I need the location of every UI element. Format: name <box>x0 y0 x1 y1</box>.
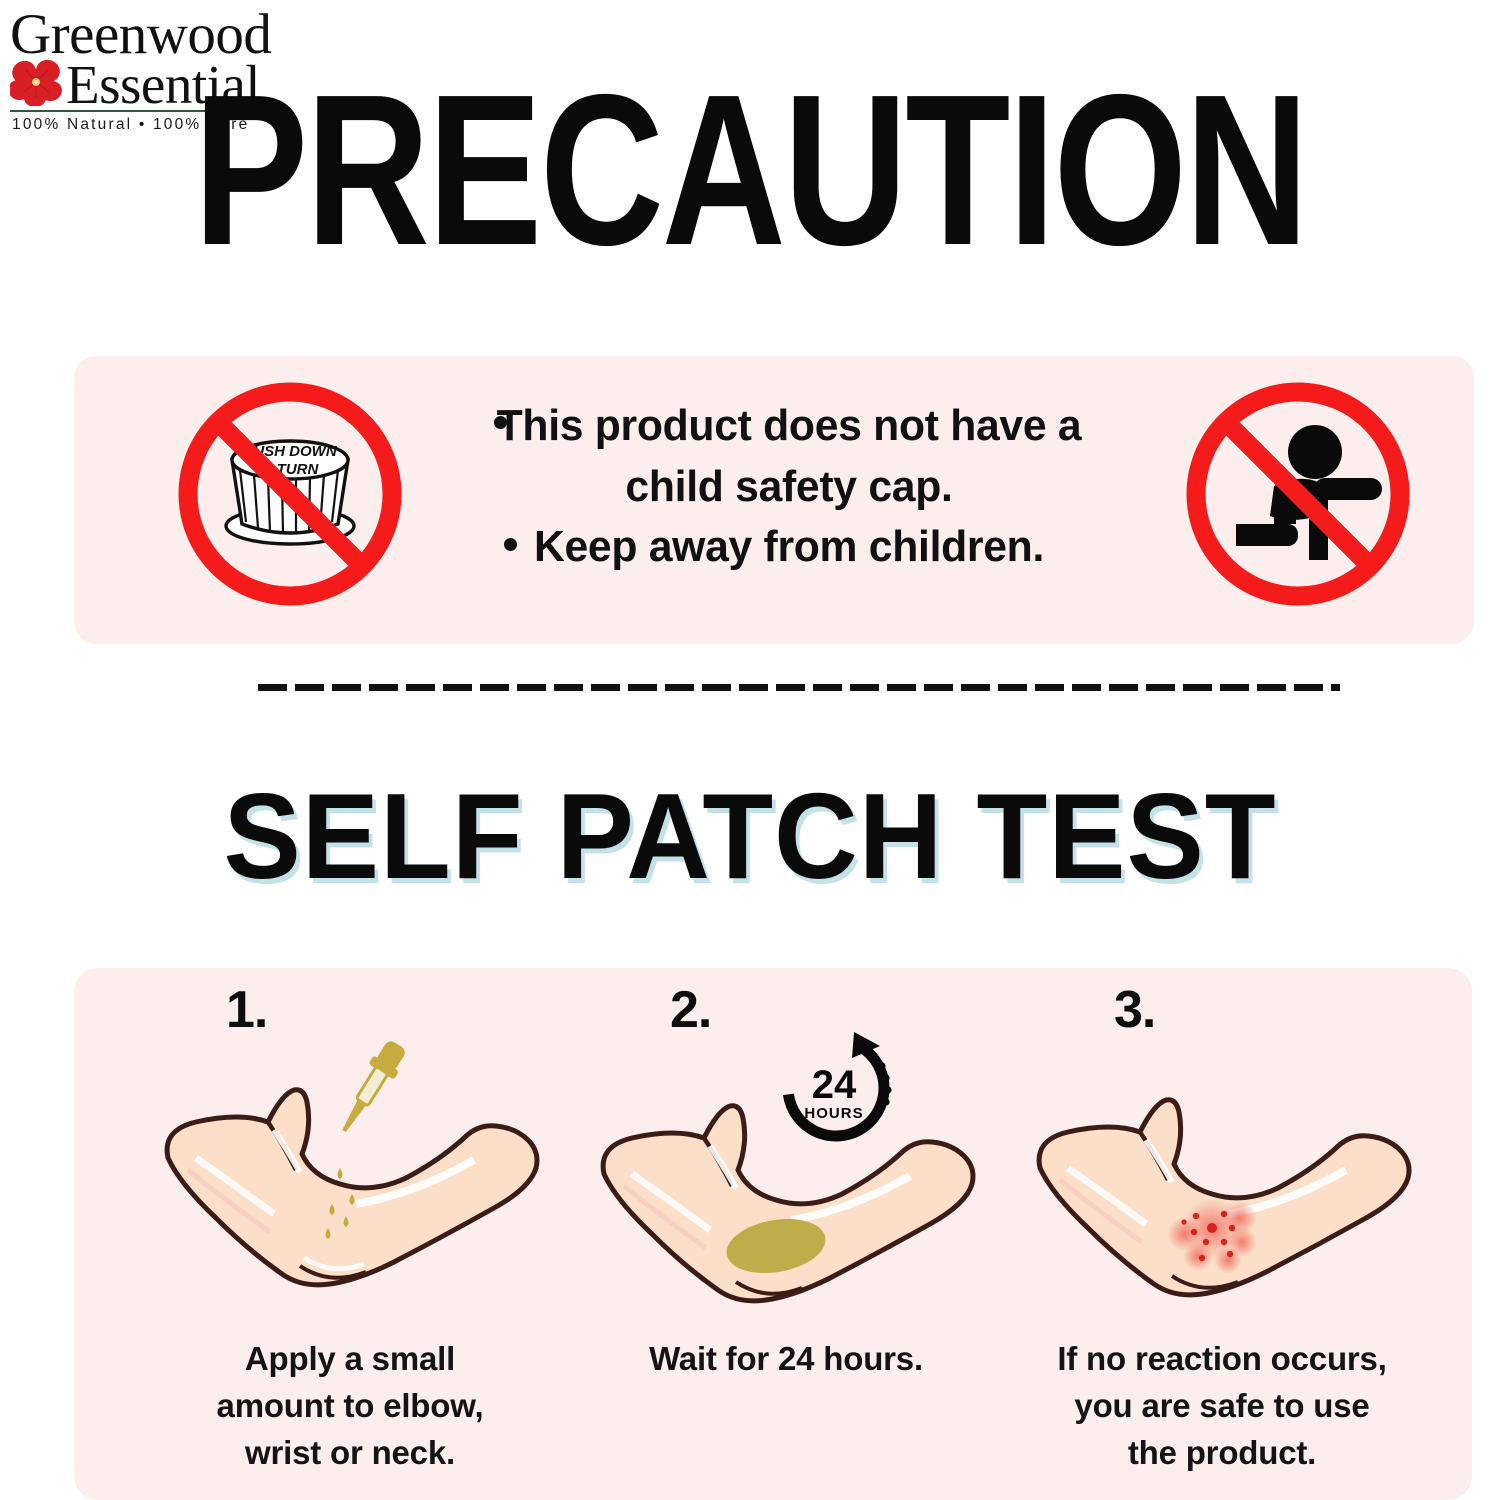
badge-hours-unit: HOURS <box>804 1105 863 1122</box>
warning-line-1: This product does not have a <box>416 396 1163 457</box>
patch-test-panel: 1. <box>74 968 1472 1500</box>
warning-line-3: Keep away from children. <box>416 517 1163 578</box>
section-divider <box>258 684 1340 691</box>
step-caption-2: Wait for 24 hours. <box>566 1336 1006 1383</box>
badge-hours-value: 24 <box>812 1063 857 1107</box>
arm-with-rash-illustration <box>1016 1018 1428 1318</box>
flower-icon <box>10 58 62 106</box>
page-title-precaution: PRECAUTION <box>150 62 1350 277</box>
arm-with-dropper-illustration <box>144 1018 556 1318</box>
patch-test-step-1: 1. <box>130 968 570 1500</box>
keep-away-from-children-icon <box>1178 374 1418 614</box>
page-title-self-patch-test: SELF PATCH TEST <box>38 775 1463 897</box>
warning-line-2: child safety cap. <box>416 457 1163 518</box>
patch-test-step-2: 2. <box>566 968 1006 1500</box>
warning-text-block: This product does not have a child safet… <box>404 396 1174 606</box>
step-caption-3: If no reaction occurs, you are safe to u… <box>1002 1336 1442 1477</box>
step-caption-1: Apply a small amount to elbow, wrist or … <box>130 1336 570 1477</box>
arm-with-oil-patch-illustration: 24 HOURS <box>580 1018 992 1318</box>
patch-test-step-3: 3. <box>1002 968 1442 1500</box>
no-child-safety-cap-icon: PUSH DOWN & TURN <box>170 374 410 614</box>
warning-panel: PUSH DOWN & TURN This product does not h… <box>74 356 1474 644</box>
